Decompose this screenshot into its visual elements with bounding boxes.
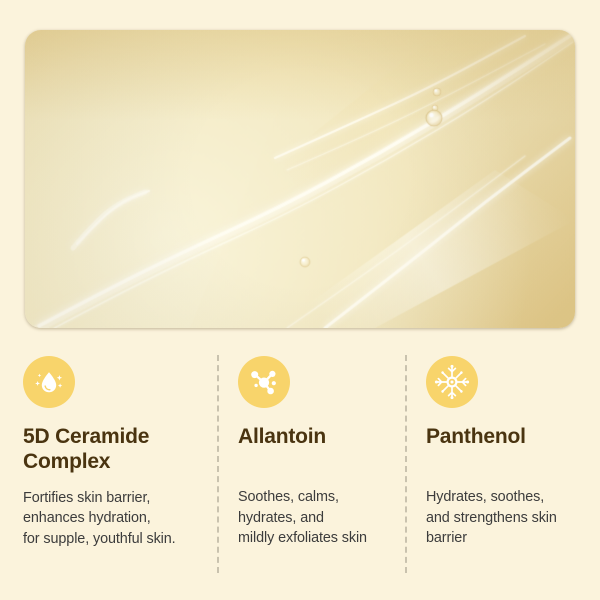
feature-card-allantoin: Allantoin Soothes, calms, hydrates, and … bbox=[217, 352, 405, 582]
feature-description: Hydrates, soothes, and strengthens skin … bbox=[426, 487, 588, 548]
feature-description: Fortifies skin barrier, enhances hydrati… bbox=[23, 488, 203, 549]
ingredient-features-row: 5D Ceramide Complex Fortifies skin barri… bbox=[0, 352, 600, 582]
molecule-icon bbox=[238, 356, 290, 408]
serum-texture-image bbox=[25, 30, 575, 328]
feature-description: Soothes, calms, hydrates, and mildly exf… bbox=[238, 487, 393, 548]
hero-image-container bbox=[25, 30, 575, 328]
water-droplet-sparkle-icon bbox=[23, 356, 75, 408]
feature-card-panthenol: Panthenol Hydrates, soothes, and strengt… bbox=[405, 352, 600, 582]
feature-card-ceramide: 5D Ceramide Complex Fortifies skin barri… bbox=[0, 352, 217, 582]
feature-title: Allantoin bbox=[238, 424, 393, 449]
snowflake-burst-icon bbox=[426, 356, 478, 408]
feature-title: 5D Ceramide Complex bbox=[23, 424, 203, 475]
feature-title: Panthenol bbox=[426, 424, 588, 449]
